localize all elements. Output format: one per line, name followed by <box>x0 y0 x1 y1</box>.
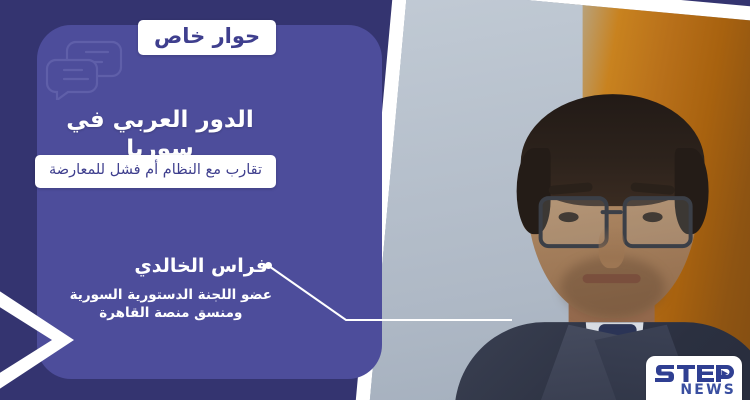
speaker-photo-content: اللجنة الدستورية <box>366 0 750 400</box>
speaker-photo: اللجنة الدستورية <box>366 0 750 400</box>
speaker-role-line2: ومنسق منصة القاهرة <box>70 304 272 322</box>
step-wordmark-icon <box>655 360 735 384</box>
news-graphic-card: اللجنة الدستورية <box>0 0 750 400</box>
step-news-logo: NEWS <box>646 356 742 400</box>
pointer-dot-icon <box>265 262 272 269</box>
speaker-role-line1: عضو اللجنة الدستورية السورية <box>70 286 272 304</box>
mouth <box>583 274 641 283</box>
eyeglasses-bridge <box>601 210 623 214</box>
speech-bubbles-icon <box>42 38 126 100</box>
eyeglasses-right-lens <box>623 196 693 248</box>
speaker-role: عضو اللجنة الدستورية السورية ومنسق منصة … <box>70 286 272 322</box>
speaker-name: فراس الخالدي <box>134 255 268 277</box>
subtitle-badge: تقارب مع النظام أم فشل للمعارضة <box>35 155 276 188</box>
nose <box>599 226 625 268</box>
speaker-photo-frame: اللجنة الدستورية <box>352 0 750 400</box>
speaker-figure <box>465 60 750 400</box>
category-badge: حوار خاص <box>138 20 276 55</box>
news-wordmark: NEWS <box>646 382 736 398</box>
